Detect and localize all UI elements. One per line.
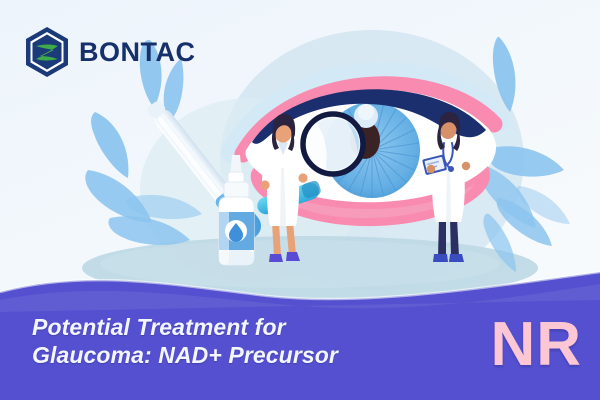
- brand-wordmark: BONTAC: [79, 39, 195, 66]
- brand-logo[interactable]: BONTAC: [24, 26, 195, 78]
- hand-left: [427, 165, 435, 173]
- banner-title-line1: Potential Treatment for: [32, 313, 338, 342]
- shoe-left: [433, 254, 448, 262]
- bontac-hexagon-logo-icon: [24, 26, 70, 78]
- hand-left: [260, 180, 269, 189]
- shoe-right: [449, 254, 464, 262]
- banner-title: Potential Treatment for Glaucoma: NAD+ P…: [32, 313, 338, 371]
- banner-title-line2: Glaucoma: NAD+ Precursor: [32, 341, 338, 370]
- nr-badge: NR: [490, 314, 582, 376]
- promo-banner: BONTAC Potential Treatment for Glaucoma:…: [0, 0, 600, 400]
- hand-right: [462, 162, 470, 170]
- shoe-left: [269, 254, 283, 262]
- hand-right: [298, 173, 307, 182]
- stethoscope-icon: [448, 166, 454, 172]
